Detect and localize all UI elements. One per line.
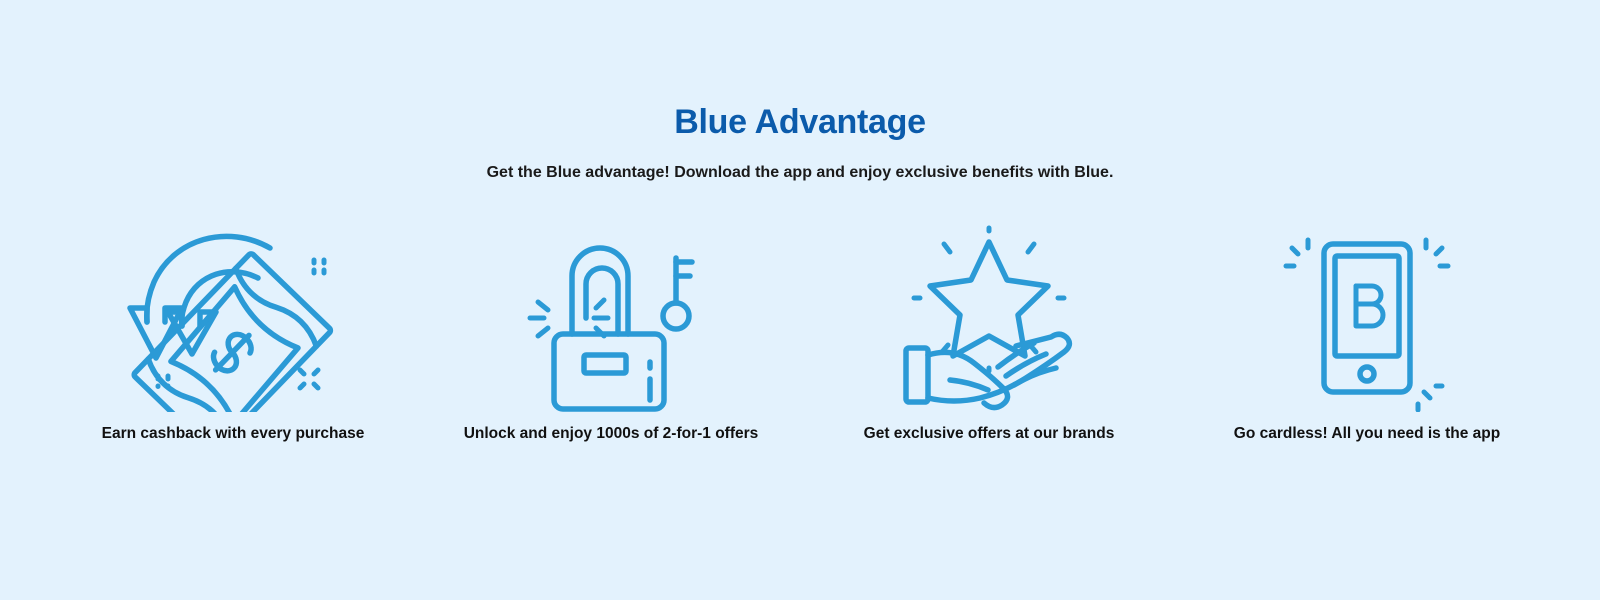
page-subtitle: Get the Blue advantage! Download the app… <box>0 163 1600 184</box>
feature-item-cardless: Go cardless! All you need is the app <box>1178 222 1556 443</box>
page-title: Blue Advantage <box>0 104 1600 141</box>
feature-caption: Unlock and enjoy 1000s of 2-for-1 offers <box>464 424 759 443</box>
open-padlock-key-icon <box>516 222 706 412</box>
blue-advantage-section: Blue Advantage Get the Blue advantage! D… <box>0 0 1600 600</box>
feature-caption: Go cardless! All you need is the app <box>1234 424 1500 443</box>
hand-star-icon <box>894 222 1084 412</box>
feature-caption: Get exclusive offers at our brands <box>864 424 1115 443</box>
section-header: Blue Advantage Get the Blue advantage! D… <box>0 0 1600 184</box>
smartphone-b-logo-icon <box>1272 222 1462 412</box>
feature-item-unlock: Unlock and enjoy 1000s of 2-for-1 offers <box>422 222 800 443</box>
feature-caption: Earn cashback with every purchase <box>102 424 365 443</box>
feature-item-exclusive-offers: Get exclusive offers at our brands <box>800 222 1178 443</box>
feature-item-cashback: Earn cashback with every purchase <box>44 222 422 443</box>
feature-list: Earn cashback with every purchase <box>0 222 1600 443</box>
cashback-banknote-icon <box>118 222 348 412</box>
